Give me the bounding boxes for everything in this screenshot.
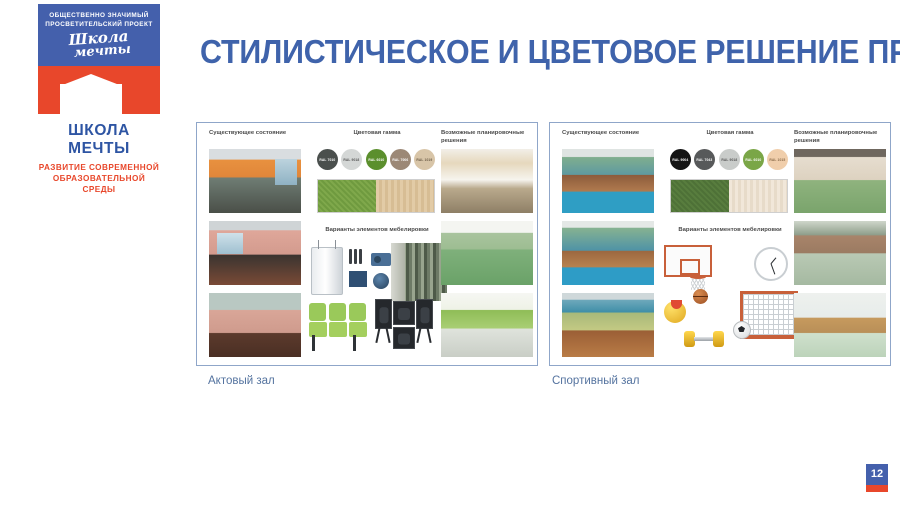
photo-green-wall-gym-windows xyxy=(562,221,654,285)
slide-title: СТИЛИСТИЧЕСКОЕ И ЦВЕТОВОЕ РЕШЕНИЕ ПРОЕКТ… xyxy=(200,33,807,71)
basketball-icon xyxy=(693,289,708,304)
swatch-ral-1: RAL 7010 xyxy=(317,149,338,170)
swatch-ral-1: RAL 9004 xyxy=(670,149,691,170)
swatch-ral-2: RAL 7043 xyxy=(694,149,715,170)
swatch-code-1: RAL 7010 xyxy=(320,158,336,162)
swatch-code-4: RAL 6010 xyxy=(745,158,761,162)
rubber-ball-icon xyxy=(664,301,686,323)
swatch-row-left: RAL 7010 RAL 9018 RAL 6010 RAL 7006 RAL … xyxy=(317,149,435,170)
dumbbell-icon xyxy=(684,331,724,347)
swatch-ral-2: RAL 9018 xyxy=(341,149,362,170)
swatch-code-2: RAL 9018 xyxy=(344,158,360,162)
swatch-ral-4: RAL 7006 xyxy=(390,149,411,170)
caption-sports-hall: Спортивный зал xyxy=(552,375,640,387)
photo-gym-wall-bars-blue xyxy=(562,293,654,357)
microphones-icon xyxy=(349,249,365,265)
presentation-slide: ОБЩЕСТВЕННО ЗНАЧИМЫЙ ПРОСВЕТИТЕЛЬСКИЙ ПР… xyxy=(0,0,900,506)
swatch-code-5: RAL 1015 xyxy=(770,158,786,162)
color-palette-left: RAL 7010 RAL 9018 RAL 6010 RAL 7006 RAL … xyxy=(317,149,435,213)
furniture-items-left xyxy=(305,239,449,359)
swatch-code-1: RAL 9004 xyxy=(673,158,689,162)
panel-sports-hall: Существующее состояние Цветовая гамма Во… xyxy=(549,122,891,366)
logo-name: ШКОЛА МЕЧТЫ xyxy=(38,122,160,158)
tone-green-texture xyxy=(318,180,376,212)
tone-wood-texture xyxy=(376,180,434,212)
planning-photos-left xyxy=(441,149,533,365)
furniture-items-right xyxy=(658,239,802,359)
photo-green-acoustic-panels-render xyxy=(441,293,533,357)
stage-curtain-icon xyxy=(391,243,447,301)
header-color-palette-right: Цветовая гамма xyxy=(670,129,790,137)
logo-subtitle: РАЗВИТИЕ СОВРЕМЕННОЙ ОБРАЗОВАТЕЛЬНОЙ СРЕ… xyxy=(38,162,160,195)
projector-icon xyxy=(371,253,391,266)
swatch-row-right: RAL 9004 RAL 7043 RAL 9018 RAL 6010 RAL … xyxy=(670,149,788,170)
logo-tagline: ОБЩЕСТВЕННО ЗНАЧИМЫЙ ПРОСВЕТИТЕЛЬСКИЙ ПР… xyxy=(38,11,160,29)
green-bench-seating-icon xyxy=(307,301,371,353)
logo-house-icon xyxy=(38,66,160,114)
photo-orange-wall-lecture-hall xyxy=(209,149,301,213)
swatch-code-4: RAL 7006 xyxy=(392,158,408,162)
tone-dark-green xyxy=(671,180,729,212)
photo-bright-gym-wood-wall xyxy=(794,293,886,357)
photo-pink-wall-empty-hall xyxy=(209,293,301,357)
basketball-hoop-icon xyxy=(664,245,712,277)
photo-green-wall-seating-render xyxy=(441,221,533,285)
wall-clock-icon xyxy=(754,247,788,281)
swatch-ral-5: RAL 1015 xyxy=(767,149,788,170)
existing-photos-right xyxy=(562,149,654,365)
header-furniture-left: Варианты элементов мебелировки xyxy=(307,227,447,233)
documents-icon xyxy=(349,271,367,287)
photo-neutral-gym-render xyxy=(794,149,886,213)
photo-brick-gym-green-floor xyxy=(794,221,886,285)
tone-cream xyxy=(729,180,787,212)
color-palette-right: RAL 9004 RAL 7043 RAL 9018 RAL 6010 RAL … xyxy=(670,149,788,213)
logo-tagline-line1: ОБЩЕСТВЕННО ЗНАЧИМЫЙ xyxy=(49,12,149,19)
swatch-code-3: RAL 6010 xyxy=(368,158,384,162)
logo-tagline-line2: ПРОСВЕТИТЕЛЬСКИЙ ПРОЕКТ xyxy=(45,21,152,28)
page-badge-accent-strip xyxy=(866,485,888,492)
blue-speaker-icon xyxy=(373,273,389,289)
header-furniture-right: Варианты элементов мебелировки xyxy=(660,227,800,233)
tone-bar-left xyxy=(317,179,435,213)
swatch-code-2: RAL 7043 xyxy=(697,158,713,162)
header-existing-state-right: Существующее состояние xyxy=(562,129,662,137)
header-existing-state-left: Существующее состояние xyxy=(209,129,309,137)
panel-assembly-hall: Существующее состояние Цветовая гамма Во… xyxy=(196,122,538,366)
logo-subtitle-line2: ОБРАЗОВАТЕЛЬНОЙ СРЕДЫ xyxy=(53,174,145,194)
soccer-ball-icon xyxy=(733,321,751,339)
header-planning-solutions-left: Возможные планировочные решения xyxy=(441,129,533,146)
photo-blue-green-gym-glossy-floor xyxy=(562,149,654,213)
header-planning-solutions-right: Возможные планировочные решения xyxy=(794,129,886,146)
tone-bar-right xyxy=(670,179,788,213)
caption-assembly-hall: Актовый зал xyxy=(208,375,275,387)
photo-pink-wall-classroom-windows xyxy=(209,221,301,285)
soccer-goal-icon xyxy=(740,291,798,339)
swatch-code-3: RAL 9018 xyxy=(721,158,737,162)
swatch-ral-3: RAL 9018 xyxy=(719,149,740,170)
logo-script-mark: Школа мечты xyxy=(38,28,160,62)
page-number: 12 xyxy=(866,464,888,484)
swatch-code-5: RAL 1019 xyxy=(417,158,433,162)
existing-photos-left xyxy=(209,149,301,365)
swatch-ral-3: RAL 6010 xyxy=(366,149,387,170)
logo-subtitle-line1: РАЗВИТИЕ СОВРЕМЕННОЙ xyxy=(39,163,159,172)
podium-icon xyxy=(311,247,343,295)
swatch-ral-5: RAL 1019 xyxy=(414,149,435,170)
planning-photos-right xyxy=(794,149,886,365)
logo-flag-emblem: ОБЩЕСТВЕННО ЗНАЧИМЫЙ ПРОСВЕТИТЕЛЬСКИЙ ПР… xyxy=(38,4,160,114)
page-number-badge: 12 xyxy=(866,464,888,492)
project-logo: ОБЩЕСТВЕННО ЗНАЧИМЫЙ ПРОСВЕТИТЕЛЬСКИЙ ПР… xyxy=(38,4,160,195)
swatch-ral-4: RAL 6010 xyxy=(743,149,764,170)
header-color-palette-left: Цветовая гамма xyxy=(317,129,437,137)
photo-wood-ceiling-auditorium-render xyxy=(441,149,533,213)
